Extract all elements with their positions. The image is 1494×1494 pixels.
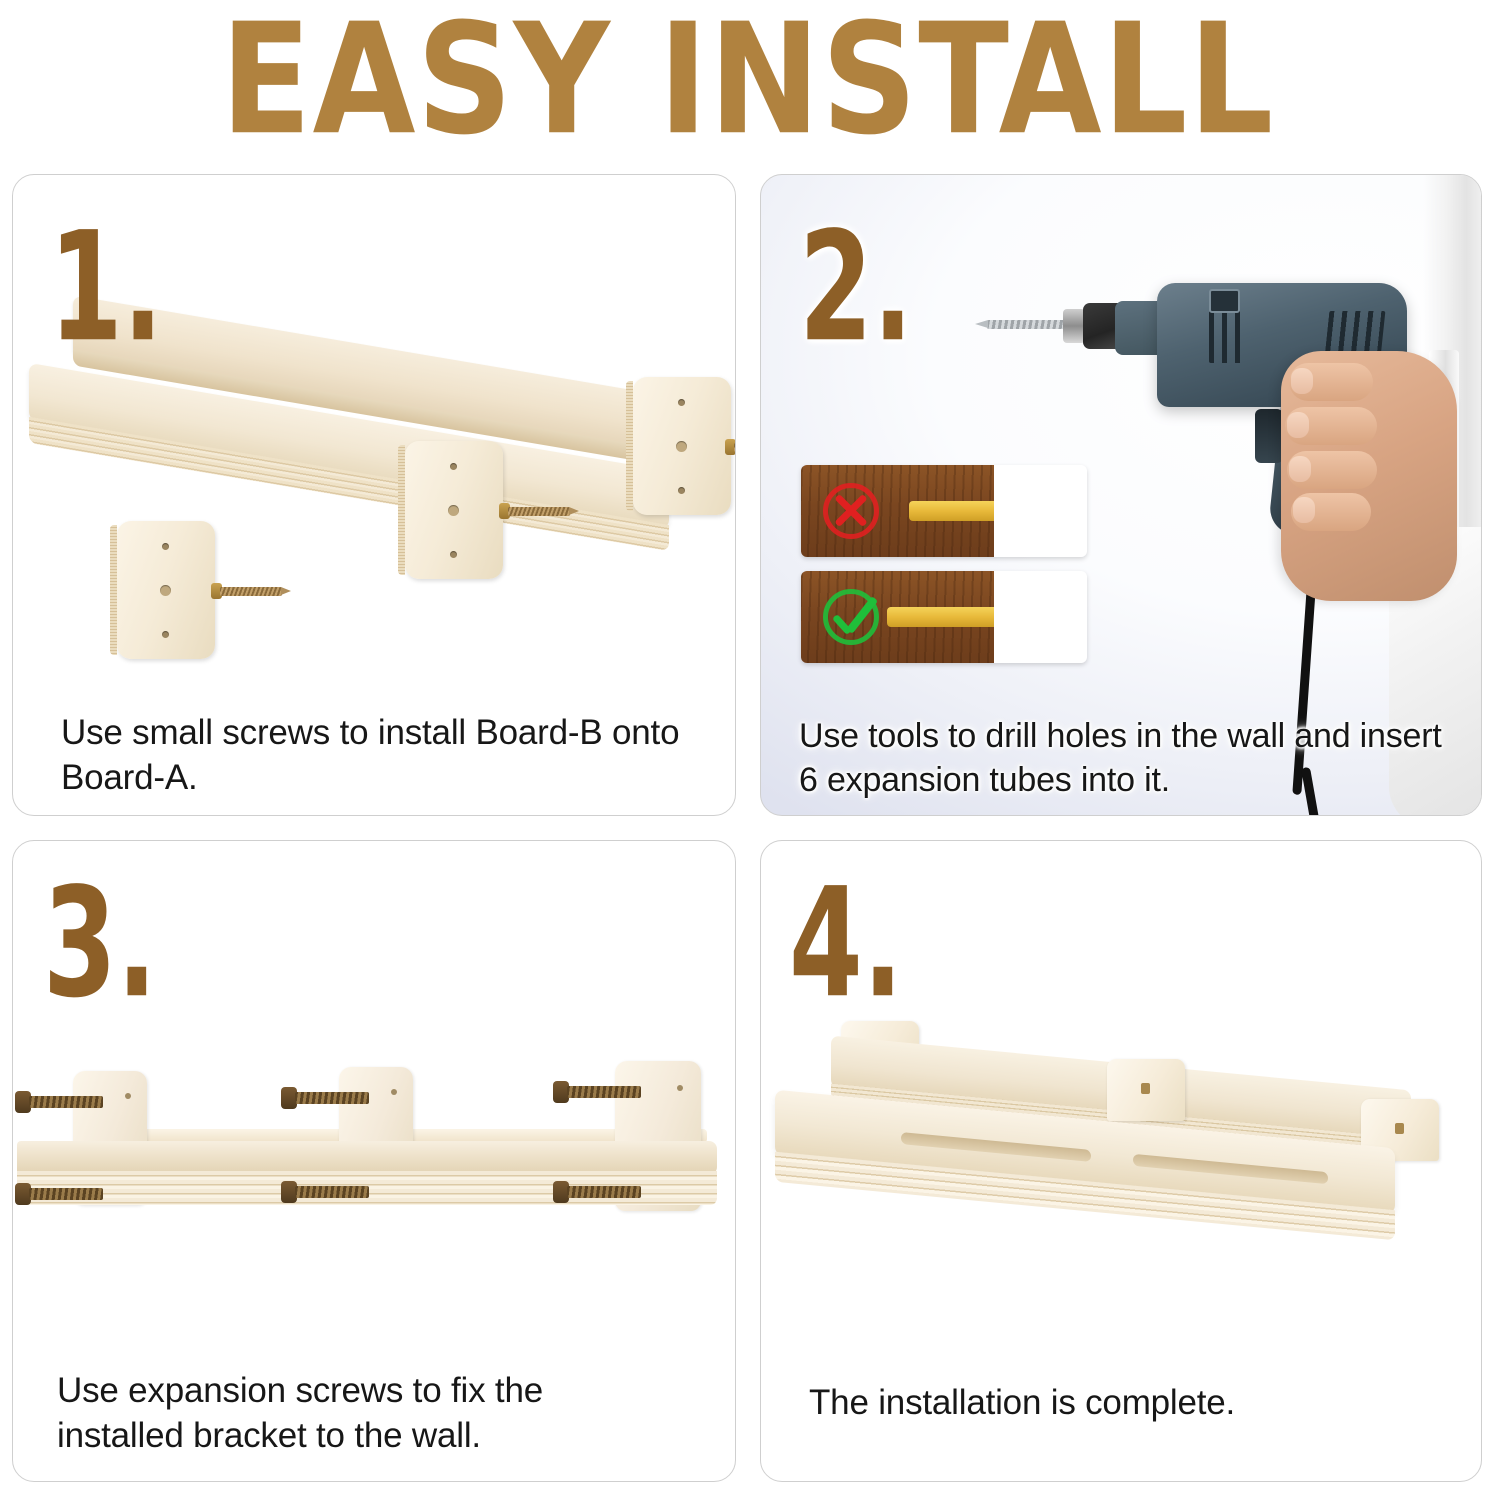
- bracket-hole: [162, 631, 169, 638]
- fingernail: [1291, 368, 1313, 394]
- bracket-left: [117, 521, 215, 659]
- bracket-tab-middle: [1107, 1059, 1185, 1121]
- bracket-hole: [125, 1093, 131, 1099]
- step-panel-3: 3. Use expansion screws to fix the insta…: [12, 840, 736, 1482]
- bracket-hole: [678, 487, 685, 494]
- bracket-hole: [391, 1089, 397, 1095]
- header-banner: EASY INSTALL: [0, 0, 1494, 160]
- step-number-2: 2.: [799, 213, 913, 364]
- drill-direction-switch: [1209, 289, 1240, 313]
- step-panel-2: ✺: [760, 174, 1482, 816]
- step-caption-4: The installation is complete.: [809, 1381, 1389, 1426]
- comparison-row-incorrect: [801, 465, 1087, 557]
- step-panel-4: 4. The installation is complete.: [760, 840, 1482, 1482]
- comparison-row-correct: [801, 571, 1087, 663]
- bracket-hole: [676, 441, 687, 452]
- bracket-hole: [450, 463, 457, 470]
- bracket-hole: [160, 585, 171, 596]
- bracket-middle: [405, 441, 503, 579]
- step-caption-3: Use expansion screws to fix the installe…: [57, 1369, 647, 1459]
- wall-cross-section: [801, 571, 994, 663]
- anchor-depth-comparison-inset: [801, 465, 1087, 665]
- steps-grid: 1. Use small screws to install Board-B o…: [0, 162, 1494, 1494]
- chuck-ring: [1063, 309, 1085, 343]
- screw-head: [1395, 1123, 1404, 1134]
- screw-head: [1141, 1083, 1150, 1094]
- page-title: EASY INSTALL: [220, 3, 1274, 156]
- drill-vent: [1209, 311, 1243, 363]
- step-caption-2: Use tools to drill holes in the wall and…: [799, 715, 1469, 802]
- bracket-right: [633, 377, 731, 515]
- bracket-hole: [678, 399, 685, 406]
- bracket-hole: [450, 551, 457, 558]
- step-caption-1: Use small screws to install Board-B onto…: [61, 711, 701, 801]
- shelf-board: [17, 1141, 717, 1175]
- step-number-3: 3.: [43, 869, 157, 1020]
- fingernail: [1293, 497, 1315, 523]
- bracket-hole: [162, 543, 169, 550]
- step-number-1: 1.: [49, 213, 163, 364]
- step-panel-1: 1. Use small screws to install Board-B o…: [12, 174, 736, 816]
- wall-outside: [994, 571, 1087, 663]
- bracket-hole: [448, 505, 459, 516]
- step-number-4: 4.: [789, 869, 903, 1020]
- wall-outside: [994, 465, 1087, 557]
- check-icon: [823, 589, 879, 645]
- wall-cross-section: [801, 465, 994, 557]
- cross-icon: [823, 483, 879, 539]
- drill-trigger: [1255, 409, 1283, 463]
- bracket-hole: [677, 1085, 683, 1091]
- fingernail: [1287, 412, 1309, 438]
- fingernail: [1289, 456, 1311, 482]
